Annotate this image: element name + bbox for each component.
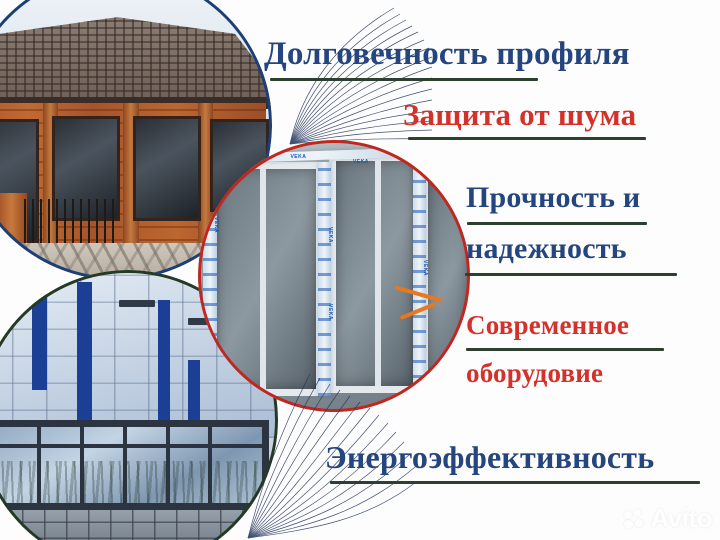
veka-brand-mark: VEKA — [290, 154, 306, 160]
headline-rule-strength-1 — [467, 222, 647, 225]
headline-rule-energy-efficiency — [330, 481, 700, 484]
headline-durability: Долговечность профиля — [264, 38, 630, 71]
headline-strength-line2: надежность — [466, 234, 627, 264]
veka-brand-mark: VEKA — [353, 159, 369, 165]
headline-rule-noise-protection — [408, 137, 646, 140]
headline-rule-strength-2 — [465, 273, 677, 276]
veka-brand-mark: VEKA — [242, 156, 258, 162]
headline-rule-equipment — [466, 348, 664, 351]
headline-equipment-line1: Современное — [466, 312, 629, 339]
poster-canvas: VEKA VEKA VEKA VEKA VEKA VEKA VEKA — [0, 0, 720, 540]
veka-brand-mark: VEKA — [327, 304, 333, 320]
veka-brand-mark: VEKA — [422, 260, 428, 276]
headline-rule-durability — [270, 78, 538, 81]
veka-brand-mark: VEKA — [327, 228, 333, 244]
headline-energy-efficiency: Энергоэффективность — [325, 441, 654, 473]
headline-noise-protection: Защита от шума — [403, 99, 636, 130]
avito-watermark: Avito — [624, 503, 712, 534]
veka-brand-mark: VEKA — [213, 217, 219, 233]
avito-wordmark: Avito — [650, 503, 712, 534]
avito-logo-icon — [624, 509, 646, 529]
headline-strength-line1: Прочность и — [466, 183, 640, 213]
headline-equipment-line2: оборудовие — [466, 360, 603, 387]
photo-veka-windows: VEKA VEKA VEKA VEKA VEKA VEKA VEKA — [198, 140, 470, 412]
